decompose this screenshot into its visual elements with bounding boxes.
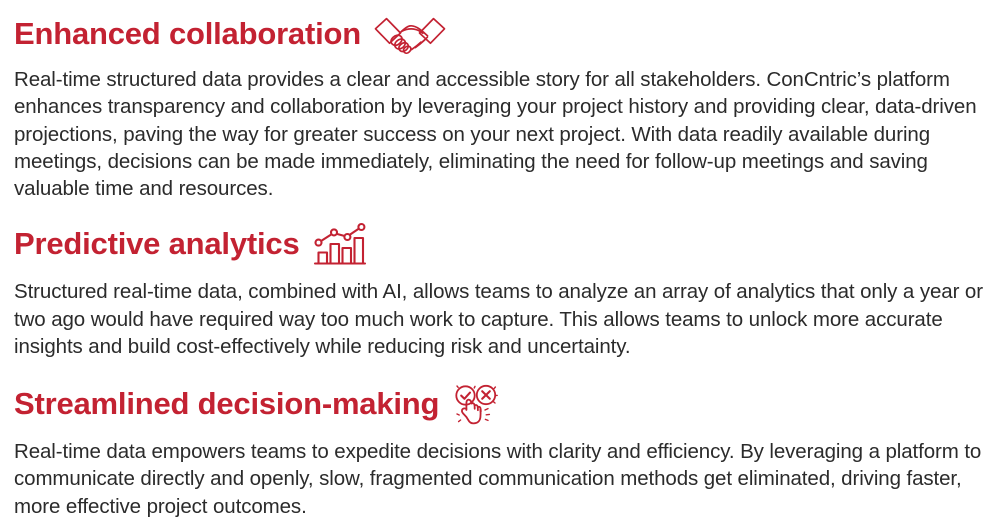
section-heading-row: Enhanced collaboration — [14, 14, 984, 54]
handshake-icon — [373, 15, 447, 55]
section-body-enhanced-collaboration: Real-time structured data provides a cle… — [14, 66, 984, 202]
section-title-enhanced-collaboration: Enhanced collaboration — [14, 16, 361, 53]
section-streamlined-decision-making: Streamlined decision-making — [14, 382, 984, 520]
section-heading-row: Predictive analytics — [14, 222, 984, 266]
section-heading-row: Streamlined decision-making — [14, 382, 984, 426]
section-predictive-analytics: Predictive analytics — [14, 222, 984, 360]
section-title-predictive-analytics: Predictive analytics — [14, 226, 300, 263]
bar-chart-trend-icon — [312, 223, 368, 267]
hand-choice-check-cross-icon — [451, 383, 501, 427]
section-title-streamlined-decision-making: Streamlined decision-making — [14, 386, 439, 423]
section-enhanced-collaboration: Enhanced collaboration — [14, 14, 984, 202]
section-body-streamlined-decision-making: Real-time data empowers teams to expedit… — [14, 438, 984, 520]
section-body-predictive-analytics: Structured real-time data, combined with… — [14, 278, 984, 360]
feature-list-page: Enhanced collaboration — [0, 0, 1000, 475]
